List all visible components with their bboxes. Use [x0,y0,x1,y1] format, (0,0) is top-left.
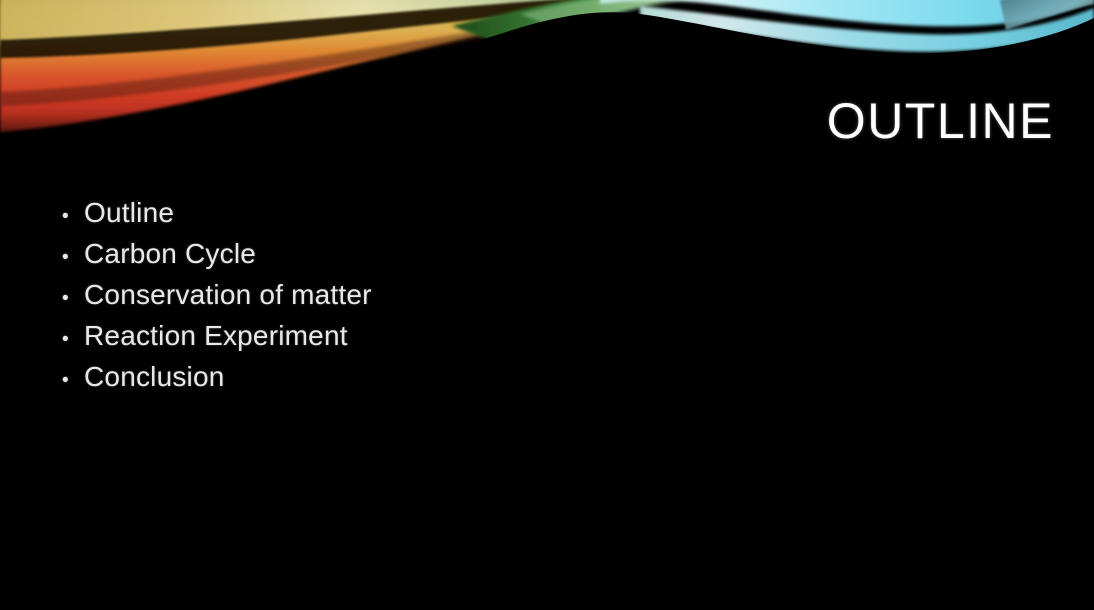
bullet-label: Outline [84,196,174,230]
bullet-label: Reaction Experiment [84,319,348,353]
ribbon-soft-streak [0,22,534,106]
bullet-marker-icon: • [62,207,84,226]
bullet-marker-icon: • [62,248,84,267]
list-item: • Carbon Cycle [62,237,822,278]
presentation-slide: OUTLINE • Outline • Carbon Cycle • Conse… [0,0,1094,610]
list-item: • Reaction Experiment [62,319,822,360]
green-band-highlight [520,0,760,28]
title-block: OUTLINE [0,96,1054,146]
bullet-marker-icon: • [62,289,84,308]
bullet-marker-icon: • [62,330,84,349]
green-band-shape [452,0,700,44]
teal-streak-shape [1000,0,1094,30]
cyan-arc-shape [600,0,1094,26]
ribbon-dark-streak [0,0,645,58]
bullet-label: Carbon Cycle [84,237,256,271]
page-title: OUTLINE [827,96,1054,146]
cyan-arc-band [640,6,1094,52]
list-item: • Conservation of matter [62,278,822,319]
list-item: • Conclusion [62,360,822,401]
list-item: • Outline [62,196,822,237]
bullet-marker-icon: • [62,371,84,390]
bullet-label: Conservation of matter [84,278,372,312]
bullet-list: • Outline • Carbon Cycle • Conservation … [62,196,822,401]
warm-ribbon-highlight [0,0,620,46]
bullet-label: Conclusion [84,360,225,394]
